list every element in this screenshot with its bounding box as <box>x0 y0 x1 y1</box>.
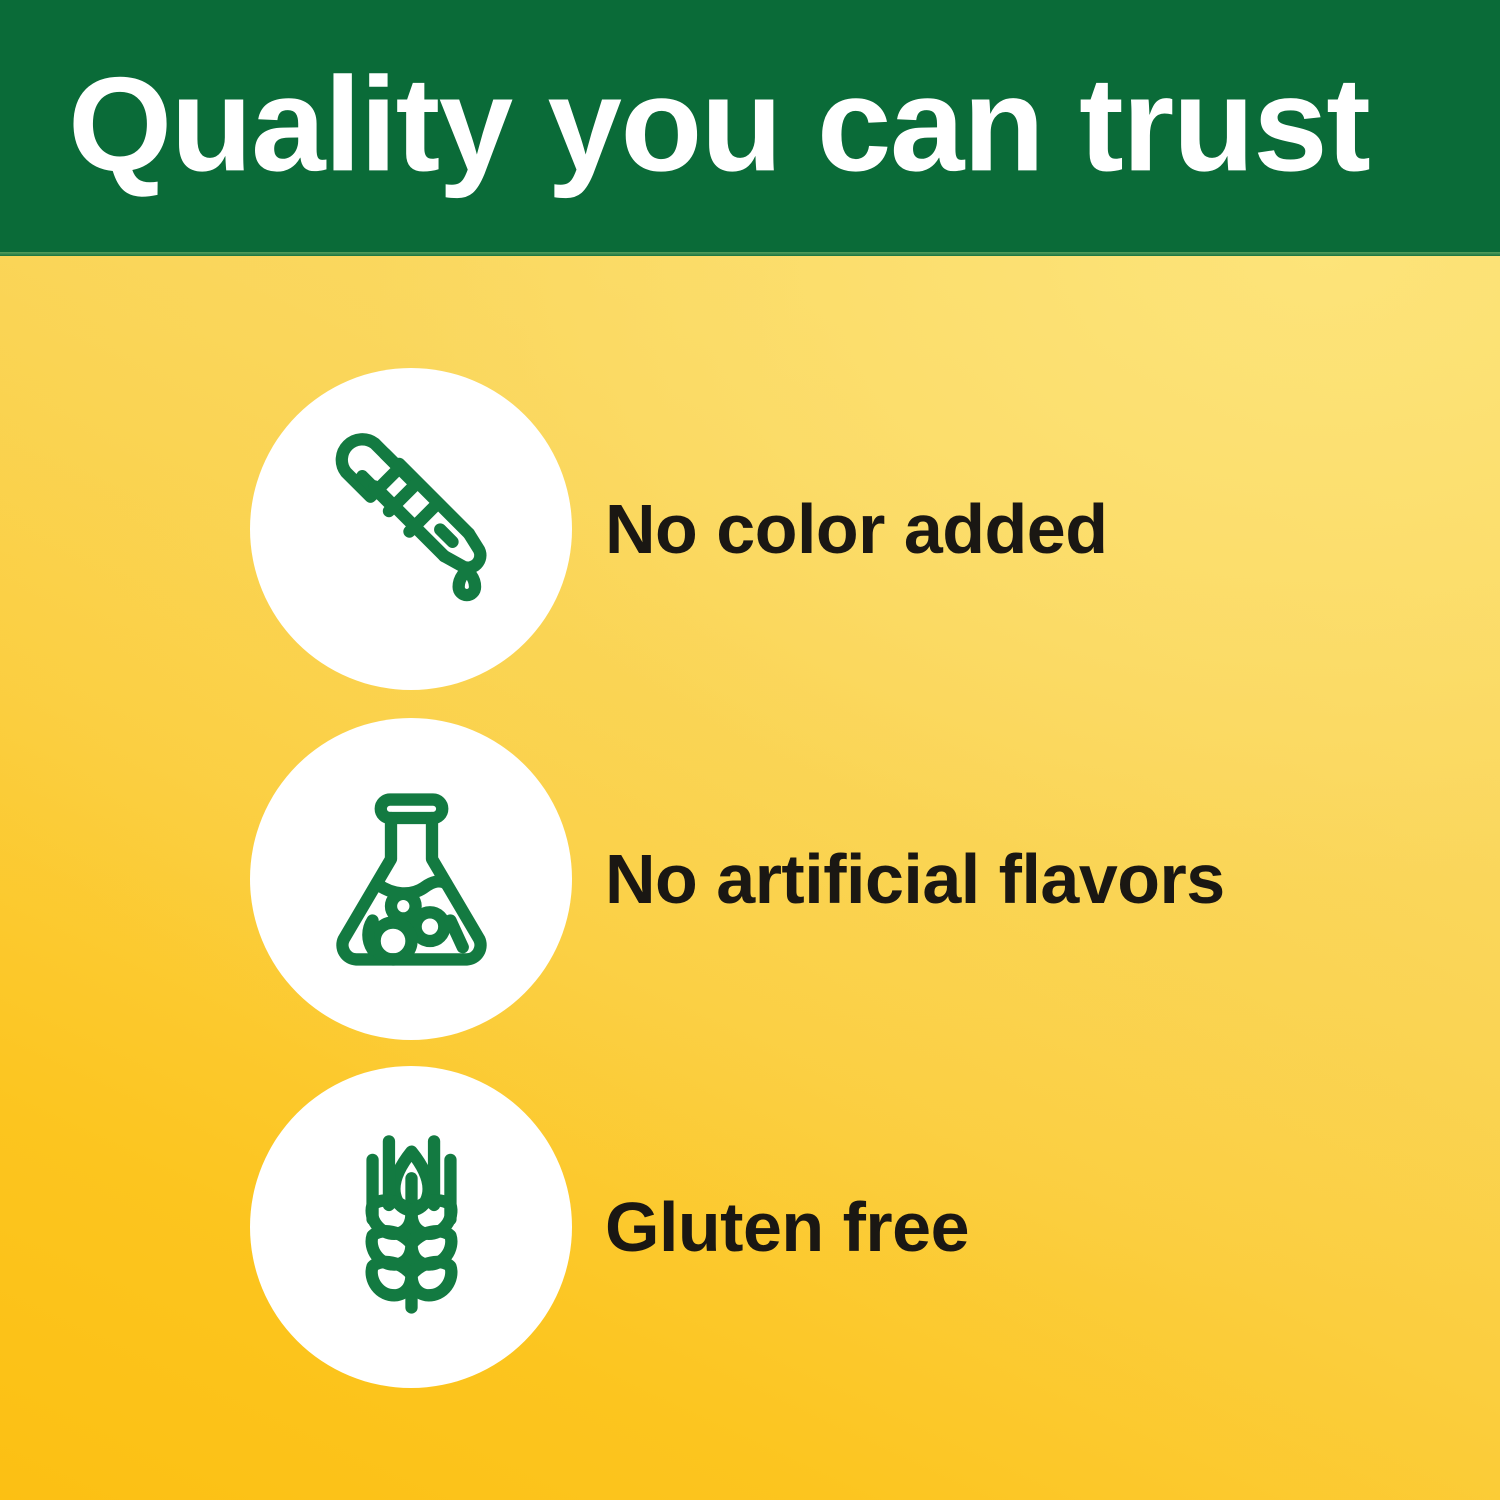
wheat-icon <box>309 1125 514 1330</box>
icon-badge-no-color <box>250 368 572 690</box>
dropper-icon <box>309 427 514 632</box>
page-title: Quality you can trust <box>68 58 1369 192</box>
feature-row-no-flavors: No artificial flavors <box>0 718 1500 1040</box>
icon-badge-no-flavors <box>250 718 572 1040</box>
header-banner: Quality you can trust <box>0 0 1500 256</box>
feature-row-no-color: No color added <box>0 368 1500 690</box>
icon-badge-gluten-free <box>250 1066 572 1388</box>
feature-label-no-color: No color added <box>605 368 1107 690</box>
feature-label-no-flavors: No artificial flavors <box>605 718 1225 1040</box>
feature-label-gluten-free: Gluten free <box>605 1066 969 1388</box>
quality-claims-poster: Quality you can trust <box>0 0 1500 1500</box>
flask-icon <box>309 777 514 982</box>
feature-row-gluten-free: Gluten free <box>0 1066 1500 1388</box>
